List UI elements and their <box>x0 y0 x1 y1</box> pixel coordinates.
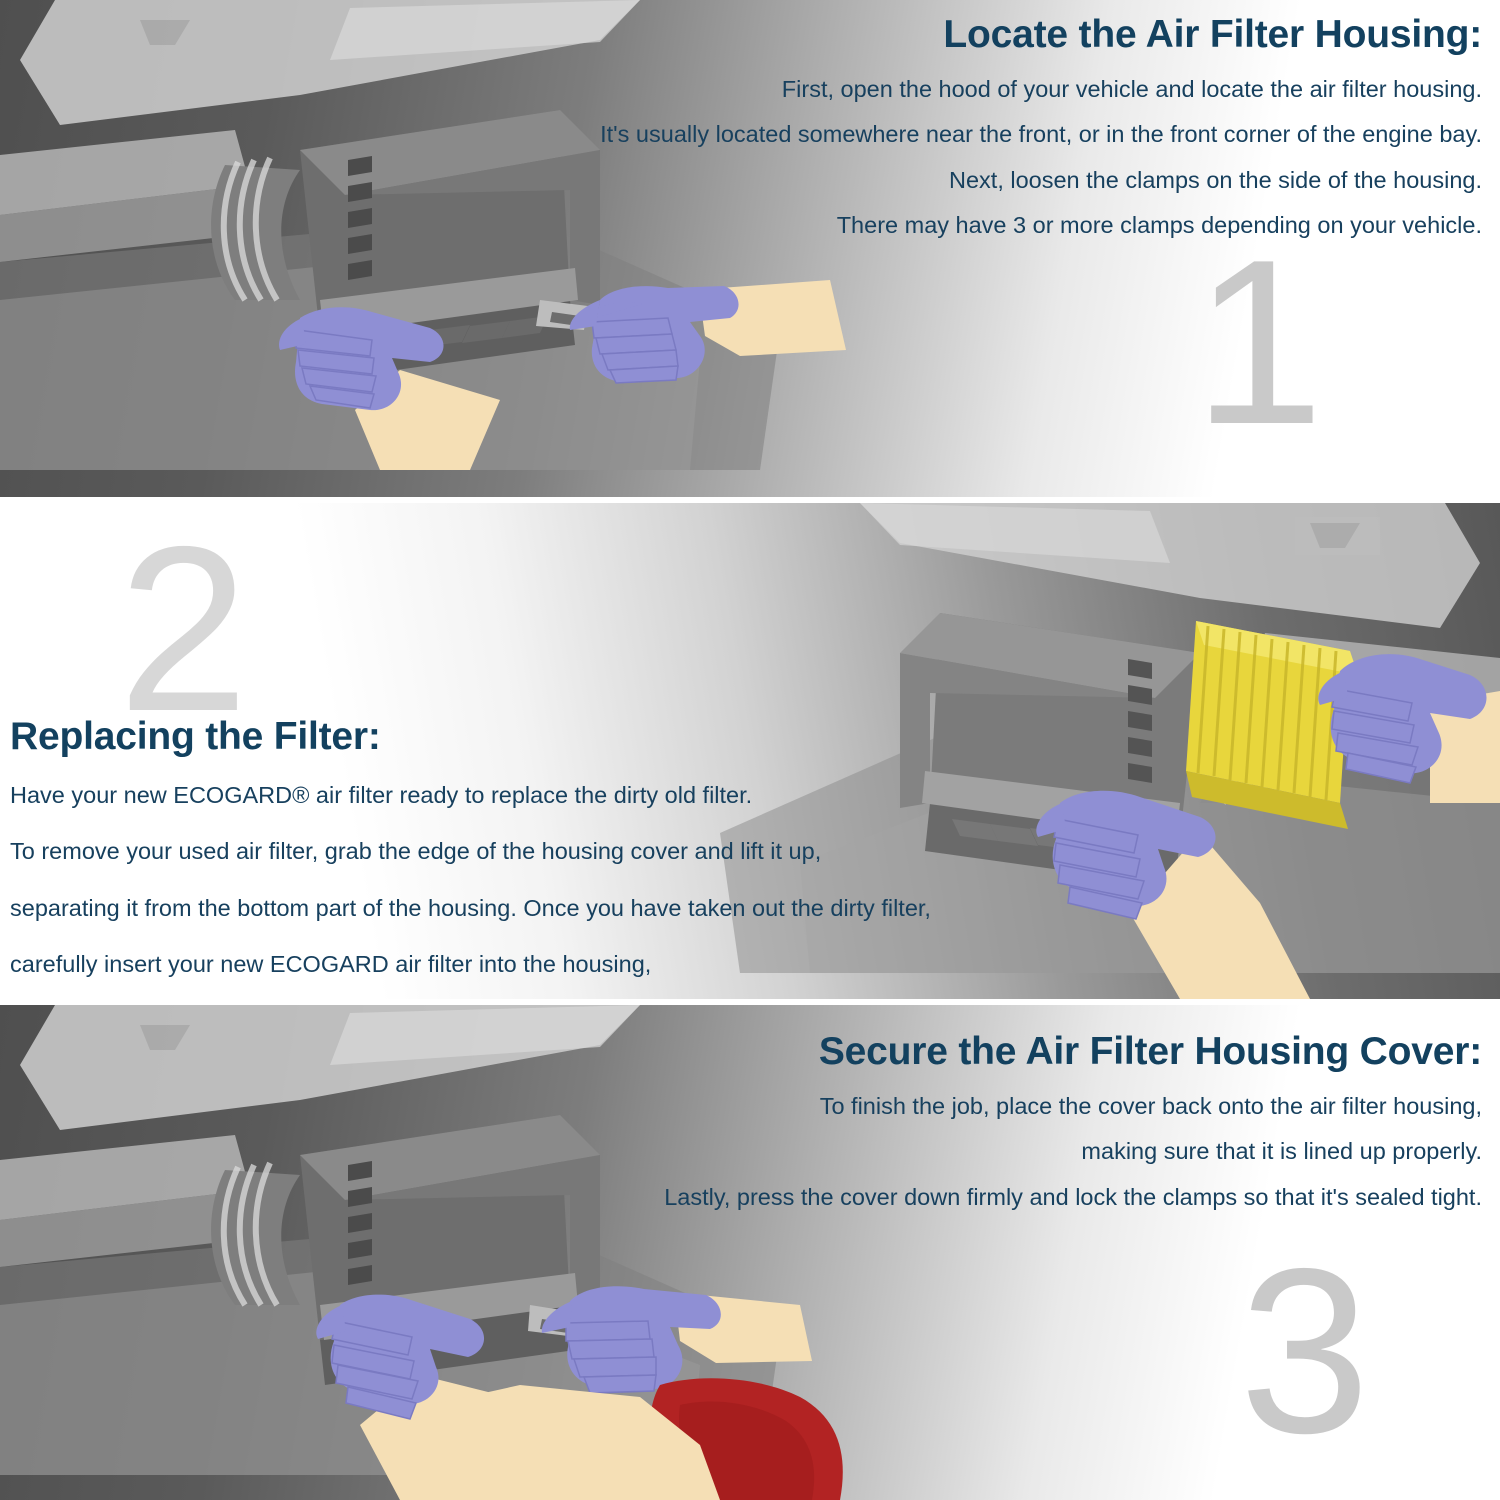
step-1-number: 1 <box>1193 224 1324 459</box>
step-1-heading: Locate the Air Filter Housing: <box>482 14 1482 57</box>
step-1-panel: 1 Locate the Air Filter Housing: First, … <box>0 0 1500 497</box>
step-1-line-4: There may have 3 or more clamps dependin… <box>482 209 1482 242</box>
step-3-heading: Secure the Air Filter Housing Cover: <box>422 1031 1482 1074</box>
step-3-number: 3 <box>1239 1233 1370 1468</box>
step-2-line-1: Have your new ECOGARD® air filter ready … <box>10 779 950 812</box>
step-2-panel: 2 Replacing the Filter: Have your new EC… <box>0 503 1500 999</box>
step-2-number: 2 <box>118 511 249 746</box>
step-2-text: Replacing the Filter: Have your new ECOG… <box>10 716 950 999</box>
step-2-line-4: carefully insert your new ECOGARD air fi… <box>10 948 950 981</box>
step-3-text: Secure the Air Filter Housing Cover: To … <box>422 1031 1482 1226</box>
step-1-line-3: Next, loosen the clamps on the side of t… <box>482 164 1482 197</box>
step-2-line-2: To remove your used air filter, grab the… <box>10 835 950 868</box>
step-3-line-2: making sure that it is lined up properly… <box>422 1135 1482 1168</box>
step-1-line-1: First, open the hood of your vehicle and… <box>482 73 1482 106</box>
step-1-line-2: It's usually located somewhere near the … <box>482 118 1482 151</box>
step-3-line-1: To finish the job, place the cover back … <box>422 1090 1482 1123</box>
instruction-sheet: 1 Locate the Air Filter Housing: First, … <box>0 0 1500 1500</box>
step-3-line-3: Lastly, press the cover down firmly and … <box>422 1181 1482 1214</box>
step-3-panel: 3 Secure the Air Filter Housing Cover: T… <box>0 1005 1500 1500</box>
step-1-text: Locate the Air Filter Housing: First, op… <box>482 8 1482 254</box>
step-2-heading: Replacing the Filter: <box>10 716 950 759</box>
step-2-line-3: separating it from the bottom part of th… <box>10 892 950 925</box>
